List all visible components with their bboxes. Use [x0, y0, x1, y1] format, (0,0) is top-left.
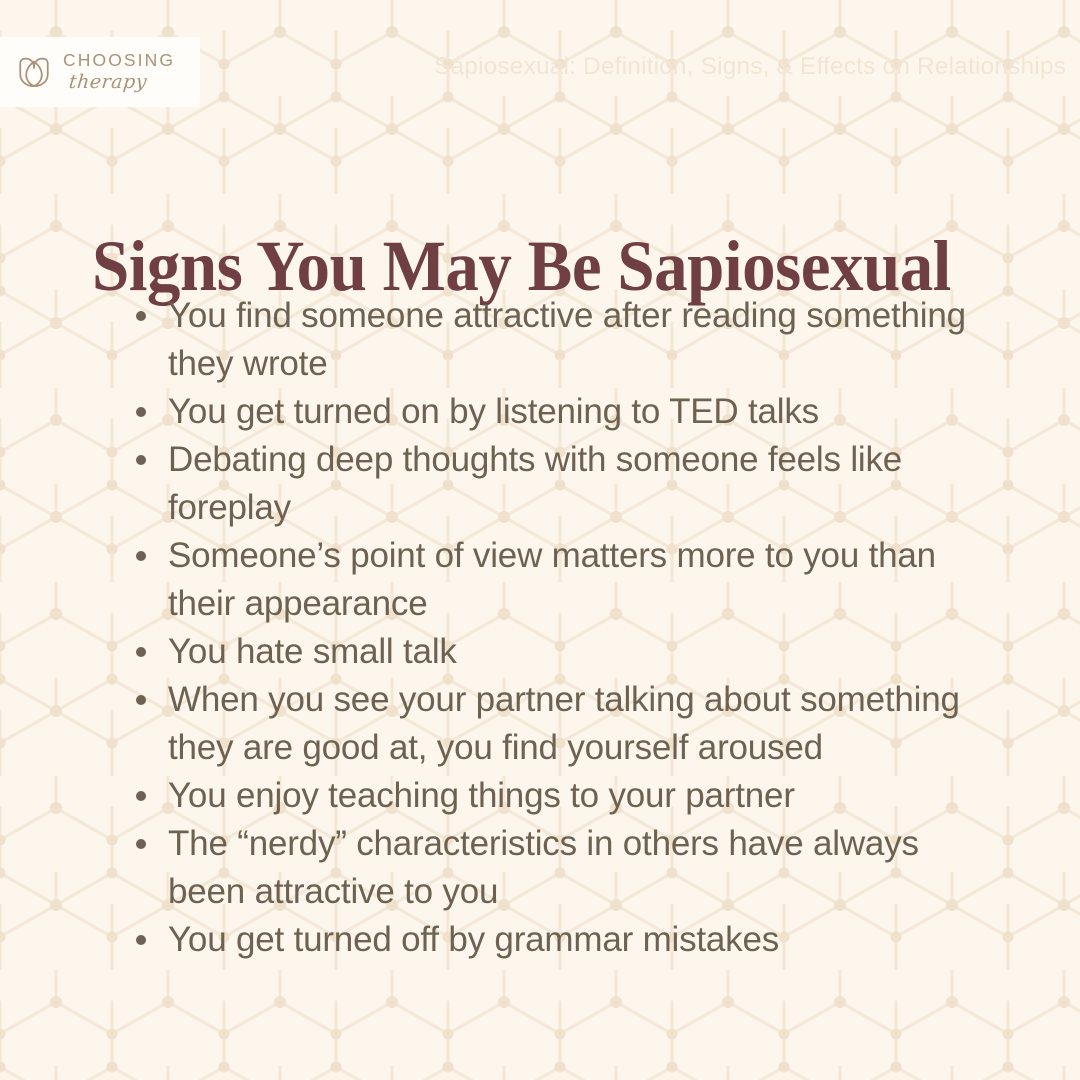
signs-list: You find someone attractive after readin… [136, 292, 966, 964]
bullet-dot-icon [136, 839, 146, 849]
infographic-canvas: CHOOSING therapy Sapiosexual: Definition… [0, 0, 1080, 1080]
logo-wordmark: CHOOSING therapy [63, 52, 175, 92]
list-item-label: When you see your partner talking about … [168, 676, 966, 772]
bullet-dot-icon [136, 791, 146, 801]
bullet-dot-icon [136, 455, 146, 465]
bullet-dot-icon [136, 935, 146, 945]
list-item: When you see your partner talking about … [136, 676, 966, 772]
list-item-label: You find someone attractive after readin… [168, 292, 966, 388]
list-item-label: You get turned on by listening to TED ta… [168, 388, 966, 436]
list-item: You get turned on by listening to TED ta… [136, 388, 966, 436]
article-title-label: Sapiosexual: Definition, Signs, & Effect… [434, 53, 1066, 81]
list-item: You find someone attractive after readin… [136, 292, 966, 388]
lotus-flower-icon [14, 52, 54, 92]
logo-primary-text: CHOOSING [63, 52, 175, 70]
bullet-dot-icon [136, 311, 146, 321]
logo-secondary-text: therapy [68, 73, 176, 92]
list-item: The “nerdy” characteristics in others ha… [136, 820, 966, 916]
list-item-label: Debating deep thoughts with someone feel… [168, 436, 966, 532]
list-item: Debating deep thoughts with someone feel… [136, 436, 966, 532]
list-item: You hate small talk [136, 628, 966, 676]
bullet-dot-icon [136, 551, 146, 561]
list-item-label: The “nerdy” characteristics in others ha… [168, 820, 966, 916]
bullet-dot-icon [136, 647, 146, 657]
bullet-dot-icon [136, 407, 146, 417]
list-item-label: You hate small talk [168, 628, 966, 676]
brand-logo[interactable]: CHOOSING therapy [0, 37, 200, 107]
bullet-dot-icon [136, 695, 146, 705]
list-item: Someone’s point of view matters more to … [136, 532, 966, 628]
list-item: You get turned off by grammar mistakes [136, 916, 966, 964]
list-item-label: Someone’s point of view matters more to … [168, 532, 966, 628]
list-item: You enjoy teaching things to your partne… [136, 772, 966, 820]
list-item-label: You enjoy teaching things to your partne… [168, 772, 966, 820]
list-item-label: You get turned off by grammar mistakes [168, 916, 966, 964]
